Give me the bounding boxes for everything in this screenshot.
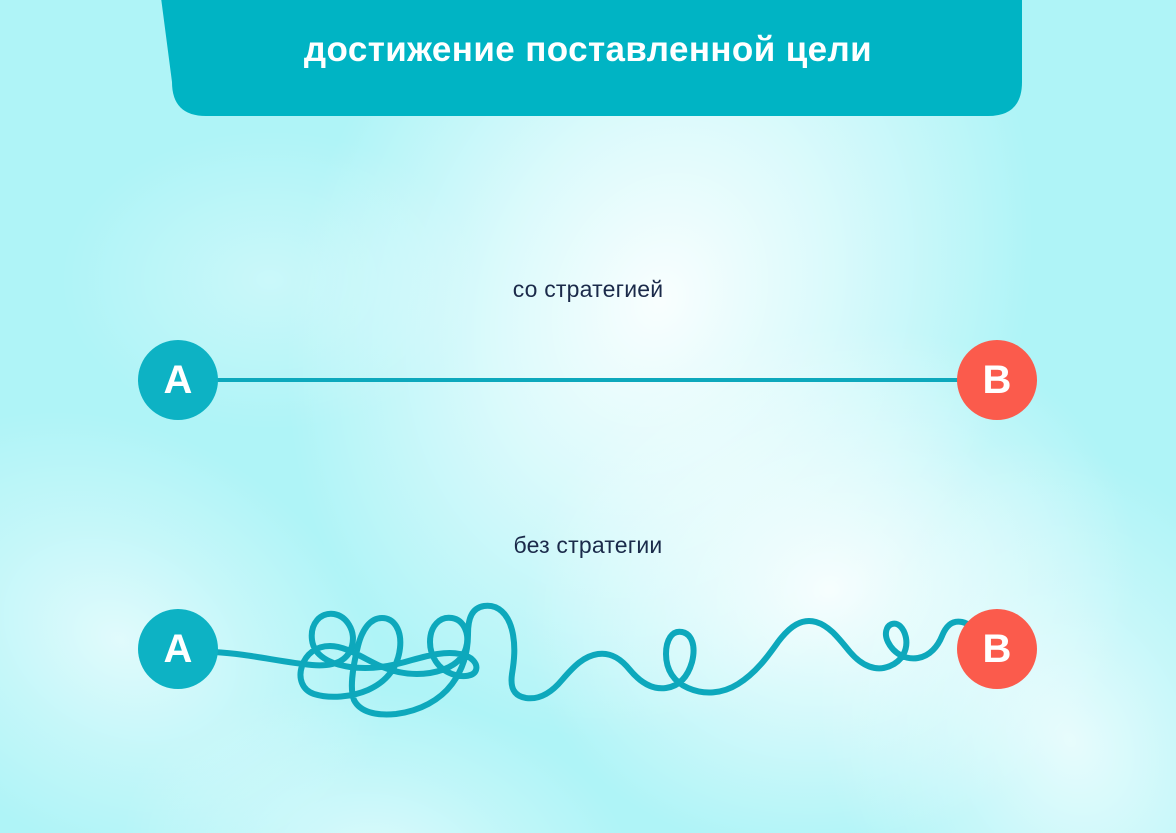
node-b-label: B bbox=[983, 629, 1012, 669]
background-bloom bbox=[721, 358, 1176, 833]
background-bloom bbox=[0, 318, 467, 833]
title-banner: достижение поставленной цели bbox=[0, 0, 1176, 120]
node-a-with-strategy[interactable]: A bbox=[138, 340, 218, 420]
node-b-without-strategy[interactable]: B bbox=[957, 609, 1037, 689]
infographic-canvas: достижение поставленной цели со стратеги… bbox=[0, 0, 1176, 833]
page-title: достижение поставленной цели bbox=[0, 30, 1176, 70]
node-a-label: A bbox=[164, 360, 193, 400]
node-b-label: B bbox=[983, 360, 1012, 400]
node-a-without-strategy[interactable]: A bbox=[138, 609, 218, 689]
label-without-strategy: без стратегии bbox=[0, 532, 1176, 559]
node-b-with-strategy[interactable]: B bbox=[957, 340, 1037, 420]
squiggle-path-line bbox=[214, 606, 982, 715]
node-a-label: A bbox=[164, 629, 193, 669]
label-with-strategy: со стратегией bbox=[0, 276, 1176, 303]
